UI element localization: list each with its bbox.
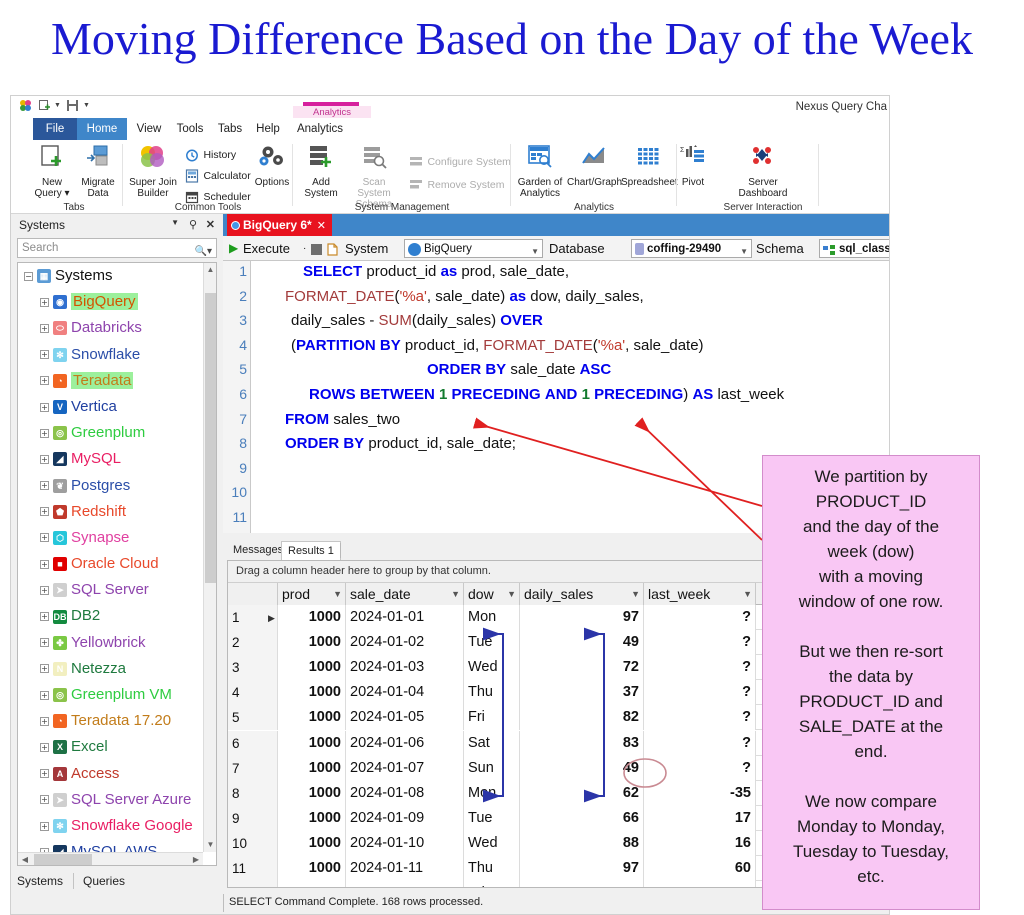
expand-icon[interactable]: +: [40, 324, 49, 333]
tree-item-label: Synapse: [71, 529, 129, 546]
expand-icon[interactable]: +: [40, 533, 49, 542]
group-separator: [676, 144, 677, 206]
oracle-cloud-icon: ■: [53, 557, 67, 571]
sql-line-7[interactable]: FROM sales_two: [285, 411, 400, 428]
column-header-dow[interactable]: dow▼: [464, 583, 520, 605]
tree-horizontal-scroll-thumb[interactable]: [34, 854, 92, 865]
calculator-button[interactable]: Calculator: [185, 167, 251, 185]
tree-item-label: Vertica: [71, 398, 117, 415]
line-number-2: 2: [239, 288, 247, 304]
execute-play-icon[interactable]: ▶: [229, 236, 238, 261]
access-icon: A: [53, 767, 67, 781]
explain-icon[interactable]: [327, 236, 338, 261]
filter-icon[interactable]: ▼: [451, 583, 460, 605]
garden-of-analytics-label-2: Analytics: [513, 188, 567, 199]
bigquery-icon: [408, 243, 421, 256]
sidebar-header: Systems ▼ ⚲ ✕: [15, 216, 221, 236]
garden-of-analytics-button[interactable]: Garden of Analytics: [513, 142, 567, 199]
ribbon-group-system-management-name: System Management: [293, 202, 511, 213]
cell-daily_sales[interactable]: 49: [520, 756, 644, 781]
line-number-10: 10: [231, 484, 247, 500]
chart-graph-button[interactable]: Chart/Graph: [567, 142, 621, 188]
remove-system-button[interactable]: Remove System: [409, 176, 504, 194]
tree-root-label: Systems: [55, 267, 113, 284]
tree-item-teradata[interactable]: +◔Teradata: [18, 368, 203, 394]
column-header-last_week[interactable]: last_week▼: [644, 583, 756, 605]
database-label: Database: [549, 236, 605, 261]
cell-last_week[interactable]: 17: [644, 806, 756, 831]
cell-dow[interactable]: Sun: [464, 756, 520, 781]
sql-line-5[interactable]: ORDER BY sale_date ASC: [427, 361, 611, 378]
cell-last_week[interactable]: -18: [644, 881, 756, 888]
cell-daily_sales[interactable]: 64: [520, 881, 644, 888]
scan-system-schema-label-1: Scan System: [345, 177, 403, 199]
super-join-builder-label-2: Builder: [125, 188, 181, 199]
tree-item-excel[interactable]: +XExcel: [18, 734, 203, 760]
line-number-6: 6: [239, 386, 247, 402]
snowflake-google-icon: ✻: [53, 819, 67, 833]
schema-select[interactable]: sql_class: [819, 239, 890, 258]
column-header-daily_sales[interactable]: daily_sales▼: [520, 583, 644, 605]
cell-sale_date[interactable]: 2024-01-10: [346, 831, 464, 856]
cell-daily_sales[interactable]: 66: [520, 806, 644, 831]
cell-prod[interactable]: 1000: [278, 856, 346, 881]
cell-prod[interactable]: 1000: [278, 756, 346, 781]
options-gears-icon: [251, 144, 293, 175]
sidebar-tab-queries[interactable]: Queries: [83, 872, 125, 891]
cell-last_week[interactable]: ?: [644, 630, 756, 655]
sql-line-6[interactable]: ROWS BETWEEN 1 PRECEDING AND 1 PRECEDING…: [309, 386, 784, 403]
tree-item-db2[interactable]: +DBDB2: [18, 603, 203, 629]
super-join-builder-button[interactable]: Super Join Builder: [125, 142, 181, 199]
spreadsheet-button[interactable]: Spreadsheet: [621, 142, 677, 188]
cell-prod[interactable]: 1000: [278, 680, 346, 705]
cell-last_week[interactable]: ?: [644, 731, 756, 756]
expand-icon[interactable]: +: [40, 403, 49, 412]
add-system-button[interactable]: Add System: [297, 142, 345, 199]
spreadsheet-label: Spreadsheet: [621, 177, 677, 188]
configure-system-icon: [409, 153, 427, 170]
tree-item-label: Databricks: [71, 319, 142, 336]
scroll-up-arrow[interactable]: ▲: [204, 263, 217, 277]
search-input[interactable]: Search 🔍▾: [17, 238, 217, 258]
tree-vertical-scrollbar[interactable]: ▲ ▼: [203, 263, 216, 852]
tree-item-access[interactable]: +AAccess: [18, 761, 203, 787]
filter-icon[interactable]: ▼: [631, 583, 640, 605]
teradata-icon: ◔: [53, 374, 67, 388]
snowflake-icon: ✻: [53, 348, 67, 362]
cell-prod[interactable]: 1000: [278, 831, 346, 856]
new-doc-icon[interactable]: [38, 99, 51, 115]
cell-prod[interactable]: 1000: [278, 806, 346, 831]
cell-last_week[interactable]: ?: [644, 655, 756, 680]
line-number-11: 11: [232, 509, 247, 525]
tree-item-netezza[interactable]: +NNetezza: [18, 656, 203, 682]
quick-access-toolbar: ▼ ▼ Nexus Query Cha: [11, 96, 890, 118]
tree-item-label: Snowflake Google: [71, 817, 193, 834]
bigquery-icon: [231, 221, 240, 230]
close-icon[interactable]: ✕: [317, 220, 326, 232]
cell-prod[interactable]: 1000: [278, 731, 346, 756]
status-text: SELECT Command Complete. 168 rows proces…: [229, 896, 483, 908]
cell-last_week[interactable]: -35: [644, 781, 756, 806]
scheduler-label: Scheduler: [203, 191, 250, 203]
expand-icon[interactable]: +: [40, 769, 49, 778]
system-select[interactable]: BigQuery ▼: [404, 239, 543, 258]
filter-icon[interactable]: ▼: [743, 583, 752, 605]
cell-sale_date[interactable]: 2024-01-12: [346, 881, 464, 888]
scan-system-schema-button[interactable]: Scan System Schema: [345, 142, 403, 210]
tree-item-label: Postgres: [71, 477, 130, 494]
migrate-data-button[interactable]: Migrate Data: [75, 142, 121, 199]
cell-last_week[interactable]: ?: [644, 705, 756, 730]
cell-last_week[interactable]: ?: [644, 680, 756, 705]
excel-icon: X: [53, 740, 67, 754]
cell-sale_date[interactable]: 2024-01-02: [346, 630, 464, 655]
sidebar-tab-systems[interactable]: Systems: [17, 872, 63, 891]
sidebar-bottom-tabs: Systems Queries: [11, 870, 223, 892]
expand-icon[interactable]: +: [40, 481, 49, 490]
tab-analytics[interactable]: Analytics: [289, 118, 351, 140]
sql-line-3[interactable]: daily_sales - SUM(daily_sales) OVER: [291, 312, 543, 329]
chart-graph-label: Chart/Graph: [567, 177, 621, 188]
cell-daily_sales[interactable]: 97: [520, 605, 644, 630]
add-system-label-2: System: [297, 188, 345, 199]
explanation-callout: We partition by PRODUCT_ID and the day o…: [762, 455, 980, 910]
garden-of-analytics-icon: [513, 144, 567, 175]
column-header-label: dow: [468, 586, 494, 602]
row-number: 2: [228, 630, 278, 655]
tree-item-synapse[interactable]: +⬡Synapse: [18, 525, 203, 551]
scroll-down-arrow[interactable]: ▼: [204, 838, 217, 852]
yellowbrick-icon: ✤: [53, 636, 67, 650]
tree-item-label: Redshift: [71, 503, 126, 520]
cell-prod[interactable]: 1000: [278, 655, 346, 680]
tree-item-label: DB2: [71, 607, 100, 624]
tree-item-sql-server[interactable]: +➤SQL Server: [18, 577, 203, 603]
save-icon[interactable]: [66, 99, 79, 115]
tree-item-postgres[interactable]: +❦Postgres: [18, 473, 203, 499]
cell-last_week[interactable]: 60: [644, 856, 756, 881]
tree-item-mysql[interactable]: +◢MySQL: [18, 446, 203, 472]
expand-icon[interactable]: +: [40, 612, 49, 621]
column-header-label: last_week: [648, 586, 710, 602]
ribbon-group-common-tools: Super Join Builder History Calculator: [123, 140, 293, 214]
ribbon-group-analytics-name: Analytics: [511, 202, 677, 213]
column-header-prod[interactable]: prod▼: [278, 583, 346, 605]
cell-daily_sales[interactable]: 37: [520, 680, 644, 705]
cell-prod[interactable]: 1000: [278, 605, 346, 630]
line-number-7: 7: [239, 411, 247, 427]
netezza-icon: N: [53, 662, 67, 676]
document-tab-label: BigQuery 6*: [243, 218, 312, 232]
tree-item-label: BigQuery: [71, 293, 138, 310]
expand-icon[interactable]: +: [40, 560, 49, 569]
tree-item-redshift[interactable]: +⬟Redshift: [18, 499, 203, 525]
systems-root-icon: ▦: [37, 269, 51, 283]
expand-icon[interactable]: +: [40, 586, 49, 595]
expand-icon[interactable]: +: [40, 743, 49, 752]
status-bar: SELECT Command Complete. 168 rows proces…: [11, 892, 890, 914]
tab-results-1[interactable]: Results 1: [281, 541, 341, 560]
ribbon: New Query ▾ Migrate Data Tabs: [11, 140, 890, 214]
chart-graph-icon: [567, 144, 621, 175]
cell-daily_sales[interactable]: 72: [520, 655, 644, 680]
tree-item-snowflake[interactable]: +✻Snowflake: [18, 342, 203, 368]
tab-home[interactable]: Home: [77, 118, 127, 140]
application-window: ▼ ▼ Nexus Query Cha Analytics File Home …: [10, 95, 890, 915]
configure-system-label: Configure System: [427, 156, 510, 168]
search-placeholder: Search: [22, 242, 58, 254]
tree-item-label: SQL Server: [71, 581, 149, 598]
systems-tree[interactable]: −▦Systems+◉BigQuery+⬭Databricks+✻Snowfla…: [17, 262, 217, 866]
cell-dow[interactable]: Wed: [464, 831, 520, 856]
cell-daily_sales[interactable]: 62: [520, 781, 644, 806]
postgres-icon: ❦: [53, 479, 67, 493]
tree-item-label: Excel: [71, 738, 108, 755]
stop-icon[interactable]: [311, 236, 322, 261]
row-number: 3: [228, 655, 278, 680]
cell-dow[interactable]: Tue: [464, 630, 520, 655]
tree-horizontal-scrollbar[interactable]: ◀ ▶: [18, 852, 203, 865]
cell-sale_date[interactable]: 2024-01-08: [346, 781, 464, 806]
tree-item-greenplum[interactable]: +◎Greenplum: [18, 420, 203, 446]
scroll-right-arrow[interactable]: ▶: [189, 853, 203, 866]
expand-icon[interactable]: +: [40, 350, 49, 359]
tab-help[interactable]: Help: [249, 118, 287, 140]
calculator-label: Calculator: [203, 170, 250, 182]
cell-prod[interactable]: 1000: [278, 781, 346, 806]
configure-system-button[interactable]: Configure System: [409, 153, 511, 171]
expand-icon[interactable]: +: [40, 664, 49, 673]
grid-corner-header: [228, 583, 278, 605]
sql-line-8[interactable]: ORDER BY product_id, sale_date;: [285, 435, 516, 452]
scroll-left-arrow[interactable]: ◀: [18, 853, 32, 866]
tab-messages[interactable]: Messages: [227, 541, 289, 560]
tab-tools[interactable]: Tools: [169, 118, 211, 140]
line-number-gutter: 1234567891011: [223, 261, 251, 533]
new-query-button[interactable]: New Query ▾: [29, 142, 75, 199]
row-number: 8: [228, 781, 278, 806]
row-number: 6: [228, 731, 278, 756]
expand-icon[interactable]: +: [40, 376, 49, 385]
remove-system-label: Remove System: [427, 179, 504, 191]
column-header-label: sale_date: [350, 586, 411, 602]
ribbon-group-server-interaction-name: Server Interaction: [707, 202, 819, 213]
expand-icon[interactable]: +: [40, 429, 49, 438]
cell-daily_sales[interactable]: 88: [520, 831, 644, 856]
cell-sale_date[interactable]: 2024-01-01: [346, 605, 464, 630]
tree-item-label: Greenplum VM: [71, 686, 172, 703]
greenplum-icon: ◎: [53, 426, 67, 440]
cell-daily_sales[interactable]: 83: [520, 731, 644, 756]
tab-view[interactable]: View: [129, 118, 169, 140]
search-icon[interactable]: 🔍▾: [195, 242, 212, 261]
flower-icon[interactable]: [19, 99, 32, 115]
system-value: BigQuery: [424, 243, 472, 255]
close-icon[interactable]: ✕: [206, 218, 215, 231]
new-query-icon: [29, 144, 75, 175]
mysql-icon: ◢: [53, 452, 67, 466]
tree-item-label: Oracle Cloud: [71, 555, 159, 572]
tree-item-snowflake-google[interactable]: +✻Snowflake Google: [18, 813, 203, 839]
cell-sale_date[interactable]: 2024-01-09: [346, 806, 464, 831]
cell-prod[interactable]: 1000: [278, 881, 346, 888]
group-by-hint: Drag a column header here to group by th…: [236, 565, 491, 577]
teradata-17-20-icon: ◔: [53, 714, 67, 728]
tree-item-vertica[interactable]: +VVertica: [18, 394, 203, 420]
divider: [340, 543, 341, 558]
tree-vertical-scroll-thumb[interactable]: [205, 293, 216, 583]
line-number-5: 5: [239, 361, 247, 377]
tab-tabs[interactable]: Tabs: [211, 118, 249, 140]
cell-prod[interactable]: 1000: [278, 630, 346, 655]
divider: [73, 873, 74, 889]
cell-sale_date[interactable]: 2024-01-04: [346, 680, 464, 705]
cell-sale_date[interactable]: 2024-01-05: [346, 705, 464, 730]
add-system-icon: [297, 144, 345, 175]
new-query-label-2: Query ▾: [29, 188, 75, 199]
cell-daily_sales[interactable]: 49: [520, 630, 644, 655]
sidebar-title: Systems: [19, 218, 65, 232]
sql-line-4[interactable]: (PARTITION BY product_id, FORMAT_DATE('%…: [291, 337, 704, 354]
cell-daily_sales[interactable]: 82: [520, 705, 644, 730]
cell-last_week[interactable]: 16: [644, 831, 756, 856]
ribbon-tabstrip: File Home View Tools Tabs Help Analytics: [11, 118, 890, 140]
spreadsheet-icon: [621, 144, 677, 175]
databricks-icon: ⬭: [53, 321, 67, 335]
ribbon-group-tabs: New Query ▾ Migrate Data Tabs: [25, 140, 123, 214]
filter-icon[interactable]: ▼: [333, 583, 342, 605]
tree-root-systems[interactable]: −▦Systems: [18, 263, 203, 289]
chevron-down-icon[interactable]: ▼: [740, 243, 748, 261]
execute-button[interactable]: Execute: [243, 236, 290, 261]
migrate-data-label-1: Migrate: [75, 177, 121, 188]
cell-dow[interactable]: Tue: [464, 806, 520, 831]
server-dashboard-icon: [733, 144, 793, 175]
qat-more-icon[interactable]: ▼: [83, 102, 90, 109]
tree-item-label: Netezza: [71, 660, 126, 677]
tree-item-bigquery[interactable]: +◉BigQuery: [18, 289, 203, 315]
tree-item-sql-server-azure[interactable]: +➤SQL Server Azure: [18, 787, 203, 813]
tree-item-label: Greenplum: [71, 424, 145, 441]
cell-sale_date[interactable]: 2024-01-06: [346, 731, 464, 756]
database-select[interactable]: coffing-29490 ▼: [631, 239, 752, 258]
systems-sidebar: Systems ▼ ⚲ ✕ Search 🔍▾ −▦Systems+◉BigQu…: [11, 214, 223, 892]
super-join-builder-icon: [125, 144, 181, 175]
expand-icon[interactable]: +: [40, 691, 49, 700]
tree-item-label: Teradata 17.20: [71, 712, 171, 729]
cell-prod[interactable]: 1000: [278, 705, 346, 730]
tree-item-greenplum-vm[interactable]: +◎Greenplum VM: [18, 682, 203, 708]
pin-icon[interactable]: ⚲: [189, 218, 197, 231]
tree-item-label: MySQL: [71, 450, 121, 467]
expand-icon[interactable]: +: [40, 638, 49, 647]
server-dashboard-button[interactable]: Server Dashboard: [733, 142, 793, 199]
cell-sale_date[interactable]: 2024-01-11: [346, 856, 464, 881]
dropdown-caret-icon[interactable]: ▼: [171, 218, 179, 227]
row-number: 5: [228, 705, 278, 730]
chevron-down-icon[interactable]: ▼: [531, 243, 539, 261]
collapse-icon[interactable]: −: [24, 272, 33, 281]
divider: [223, 894, 224, 912]
bigquery-icon: ◉: [53, 295, 67, 309]
row-number: 4: [228, 680, 278, 705]
options-button[interactable]: Options: [251, 142, 293, 188]
synapse-icon: ⬡: [53, 531, 67, 545]
cell-dow[interactable]: Wed: [464, 655, 520, 680]
expand-icon[interactable]: +: [40, 507, 49, 516]
row-number: 10: [228, 831, 278, 856]
ribbon-group-tabs-name: Tabs: [25, 202, 123, 213]
cell-sale_date[interactable]: 2024-01-03: [346, 655, 464, 680]
current-row-indicator: ▶: [268, 613, 275, 624]
tab-file[interactable]: File: [33, 118, 77, 140]
sql-line-2[interactable]: FORMAT_DATE('%a', sale_date) as dow, dai…: [285, 288, 644, 305]
calculator-icon: [185, 167, 203, 184]
tree-item-yellowbrick[interactable]: +✤Yellowbrick: [18, 630, 203, 656]
sql-server-icon: ➤: [53, 583, 67, 597]
cell-sale_date[interactable]: 2024-01-07: [346, 756, 464, 781]
cell-dow[interactable]: Thu: [464, 856, 520, 881]
cell-dow[interactable]: Sat: [464, 731, 520, 756]
cell-dow[interactable]: Mon: [464, 605, 520, 630]
expand-icon[interactable]: +: [40, 822, 49, 831]
dropdown-caret-icon[interactable]: ▼: [54, 102, 61, 109]
sql-server-azure-icon: ➤: [53, 793, 67, 807]
document-tabbar: BigQuery 6*✕: [223, 214, 889, 236]
execute-dropdown-icon[interactable]: ·: [303, 236, 306, 261]
expand-icon[interactable]: +: [40, 717, 49, 726]
document-tab-bigquery6[interactable]: BigQuery 6*✕: [227, 214, 332, 236]
column-header-label: daily_sales: [524, 586, 593, 602]
schema-value: sql_class: [839, 243, 890, 255]
cell-dow[interactable]: Fri: [464, 705, 520, 730]
cell-daily_sales[interactable]: 97: [520, 856, 644, 881]
history-button[interactable]: History: [185, 146, 236, 164]
new-query-label-1: New: [29, 177, 75, 188]
vertica-icon: V: [53, 400, 67, 414]
page-title: Moving Difference Based on the Day of th…: [0, 12, 1024, 65]
expand-icon[interactable]: +: [40, 795, 49, 804]
column-header-sale_date[interactable]: sale_date▼: [346, 583, 464, 605]
tree-item-oracle[interactable]: +■Oracle: [18, 865, 203, 866]
cell-dow[interactable]: Fri: [464, 881, 520, 888]
database-icon: [635, 243, 644, 255]
sql-line-1[interactable]: SELECT product_id as prod, sale_date,: [303, 263, 569, 280]
cell-last_week[interactable]: ?: [644, 605, 756, 630]
server-dashboard-label-1: Server: [733, 177, 793, 188]
cell-last_week[interactable]: ?: [644, 756, 756, 781]
cell-dow[interactable]: Thu: [464, 680, 520, 705]
cell-dow[interactable]: Mon: [464, 781, 520, 806]
tree-item-databricks[interactable]: +⬭Databricks: [18, 315, 203, 341]
pivot-icon: Σ: [677, 144, 709, 175]
line-number-8: 8: [239, 435, 247, 451]
migrate-data-icon: [75, 144, 121, 175]
tree-item-oracle-cloud[interactable]: +■Oracle Cloud: [18, 551, 203, 577]
pivot-button[interactable]: Σ Pivot: [677, 142, 709, 188]
expand-icon[interactable]: +: [40, 298, 49, 307]
tree-item-label: SQL Server Azure: [71, 791, 191, 808]
expand-icon[interactable]: +: [40, 455, 49, 464]
tree-item-label: Snowflake: [71, 346, 140, 363]
tree-item-teradata-17-20[interactable]: +◔Teradata 17.20: [18, 708, 203, 734]
schema-label: Schema: [756, 236, 804, 261]
filter-icon[interactable]: ▼: [507, 583, 516, 605]
db2-icon: DB: [53, 610, 67, 624]
redshift-icon: ⬟: [53, 505, 67, 519]
